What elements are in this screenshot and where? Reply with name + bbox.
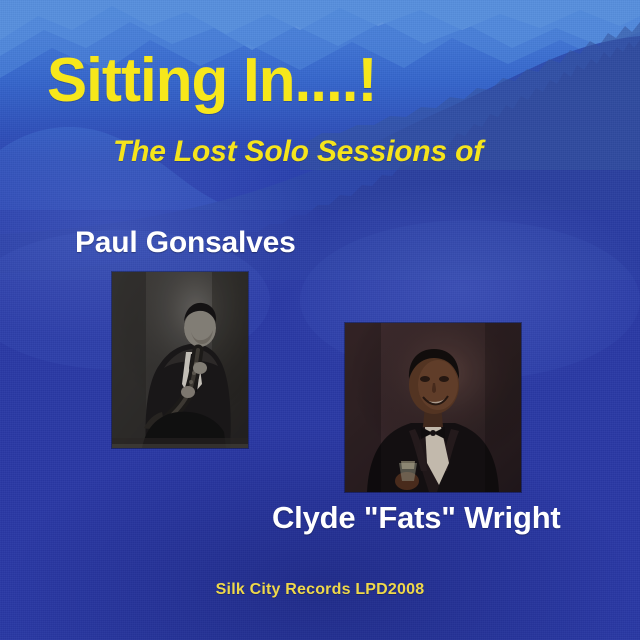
clyde-fats-wright-photo [345, 323, 521, 492]
album-cover: Sitting In....! The Lost Solo Sessions o… [0, 0, 640, 640]
album-title: Sitting In....! [47, 50, 377, 112]
artist-name-secondary: Clyde "Fats" Wright [272, 502, 561, 533]
artist-name-primary: Paul Gonsalves [75, 228, 296, 258]
paul-gonsalves-photo [112, 272, 248, 448]
record-label-line: Silk City Records LPD2008 [0, 581, 640, 599]
album-subtitle: The Lost Solo Sessions of [113, 137, 483, 167]
